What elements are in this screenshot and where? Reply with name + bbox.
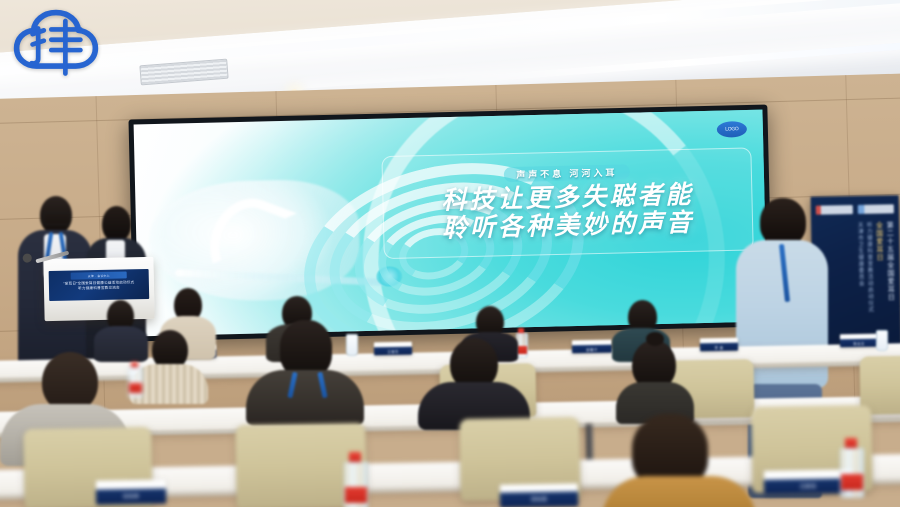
name-card-8: 吕建强 [764, 469, 852, 495]
name-card-6-text: 张晓峰 [123, 493, 139, 500]
attendee-dark-jacket [246, 320, 364, 420]
presenter-female-head [102, 206, 131, 242]
banner-col-sub1: 听力健康科普宣教活动启动仪式 [866, 222, 874, 348]
name-card-4-text: 李 鑫 [715, 344, 724, 349]
paper-cup-2 [876, 330, 888, 351]
led-display-screen: LOGO 声声不息 河河入耳 科技让更多失聪者能 聆听各种美妙的声音 [128, 105, 772, 342]
photo-scene: LOGO 声声不息 河河入耳 科技让更多失聪者能 聆听各种美妙的声音 第二十五届… [0, 0, 900, 507]
banner-col-highlight: 全国爱耳日 [875, 222, 885, 348]
podium-sign-top-text: 天津 · 会议中心 [88, 273, 110, 277]
led-screen-content: LOGO 声声不息 河河入耳 科技让更多失聪者能 聆听各种美妙的声音 [134, 110, 768, 337]
attendee-mustard [596, 414, 756, 507]
water-bottle-4 [840, 438, 862, 496]
screen-headline-block: 声声不息 河河入耳 科技让更多失聪者能 聆听各种美妙的声音 [381, 147, 753, 259]
podium-sign: 天津 · 会议中心 “爱耳日”全国爱耳日健康公益活动启动仪式 听力健康科普宣教交… [49, 269, 150, 301]
name-card-4: 李 鑫 [700, 338, 738, 352]
glasses-icon [43, 212, 71, 225]
tianjin-cloud-watermark [8, 6, 104, 96]
screen-corner-logo: LOGO [717, 121, 747, 138]
banner-vertical-text: 第二十五届全国爱耳日 全国爱耳日 听力健康科普宣教活动启动仪式 天津市卫生健康委… [857, 221, 896, 348]
name-card-3: 赵敏宁 [572, 340, 612, 354]
water-bottle-3 [344, 452, 366, 507]
name-card-2-text: 王宝华 [387, 348, 398, 353]
name-card-8-text: 吕建强 [800, 483, 816, 490]
banner-col-sub2: 天津市卫生健康委员会 [857, 222, 865, 348]
screen-tagline: 声声不息 河河入耳 [504, 164, 630, 182]
standing-attendee-head [760, 198, 806, 246]
attendee-woman-bun [612, 336, 696, 420]
banner-logo-right-icon [857, 204, 894, 214]
banner-col-main: 第二十五届全国爱耳日 [885, 221, 895, 347]
name-card-7-text: 周晓霞 [531, 496, 547, 503]
attendee-black-suit [418, 338, 530, 424]
name-card-7: 周晓霞 [500, 483, 578, 507]
screen-logo-text: LOGO [725, 127, 738, 132]
water-bottle-5 [128, 362, 141, 396]
name-card-5: 陈志文 [840, 334, 878, 348]
podium-sign-top-strip: 天津 · 会议中心 [71, 271, 127, 279]
name-card-5-text: 陈志文 [853, 340, 864, 345]
name-card-3-text: 赵敏宁 [586, 346, 597, 351]
name-card-6: 张晓峰 [96, 479, 166, 504]
name-card-2: 王宝华 [374, 342, 412, 356]
